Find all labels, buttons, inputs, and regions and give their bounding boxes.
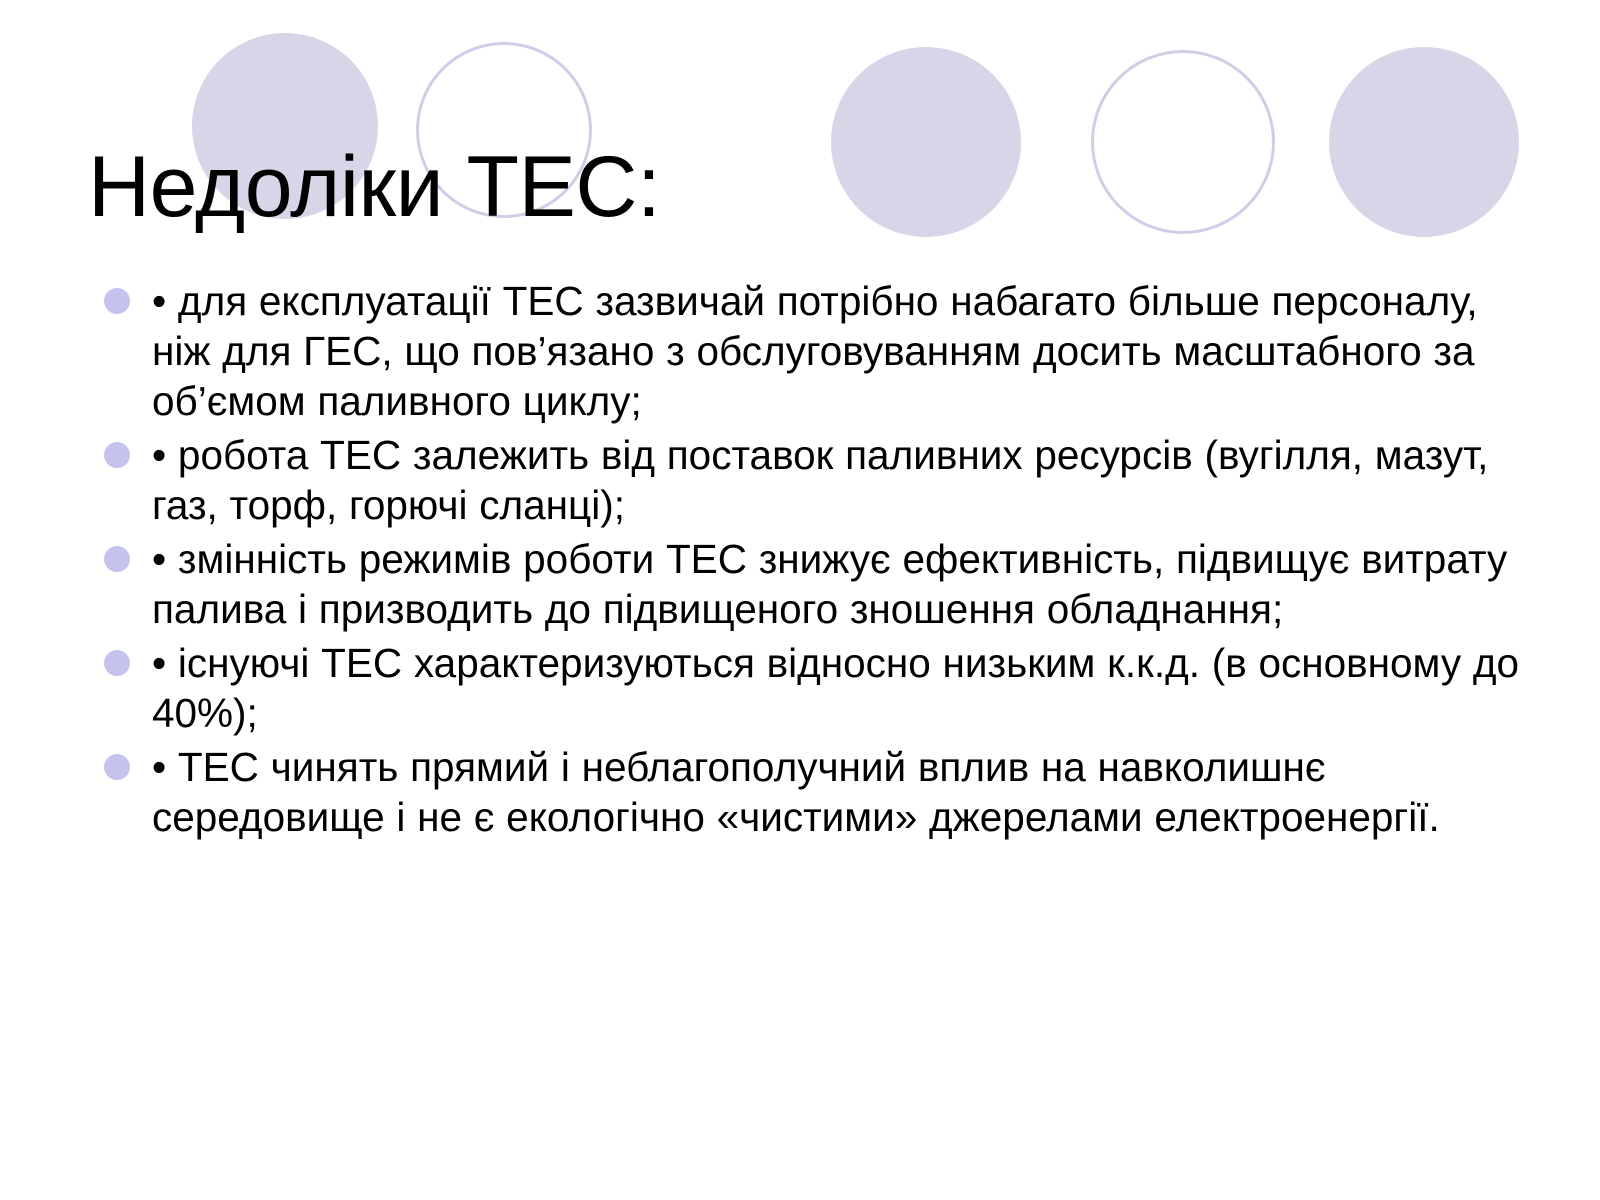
slide-canvas: { "slide": { "title": "Недоліки ТЕС:", "… — [0, 0, 1600, 1200]
list-item: • змінність режимів роботи ТЕС знижує еф… — [100, 534, 1520, 634]
list-item: • робота ТЕС залежить від поставок палив… — [100, 430, 1520, 530]
list-item-label: • для експлуатації ТЕС зазвичай потрібно… — [152, 276, 1520, 426]
list-item-label: • ТЕС чинять прямий і неблагополучний вп… — [152, 742, 1520, 842]
bullet-dot-icon — [104, 546, 130, 572]
decor-circle-5-icon — [1329, 47, 1519, 237]
decor-circle-3-icon — [831, 47, 1021, 237]
list-item: • для експлуатації ТЕС зазвичай потрібно… — [100, 276, 1520, 426]
bullet-dot-icon — [104, 754, 130, 780]
bullet-dot-icon — [104, 288, 130, 314]
list-item: • існуючі ТЕС характеризуються відносно … — [100, 638, 1520, 738]
bullet-dot-icon — [104, 650, 130, 676]
list-item-label: • існуючі ТЕС характеризуються відносно … — [152, 638, 1520, 738]
bullet-list: • для експлуатації ТЕС зазвичай потрібно… — [100, 276, 1520, 846]
list-item: • ТЕС чинять прямий і неблагополучний вп… — [100, 742, 1520, 842]
page-title: Недоліки ТЕС: — [88, 144, 660, 230]
list-item-label: • змінність режимів роботи ТЕС знижує еф… — [152, 534, 1520, 634]
list-item-label: • робота ТЕС залежить від поставок палив… — [152, 430, 1520, 530]
bullet-dot-icon — [104, 442, 130, 468]
decor-circle-4-icon — [1091, 50, 1275, 234]
